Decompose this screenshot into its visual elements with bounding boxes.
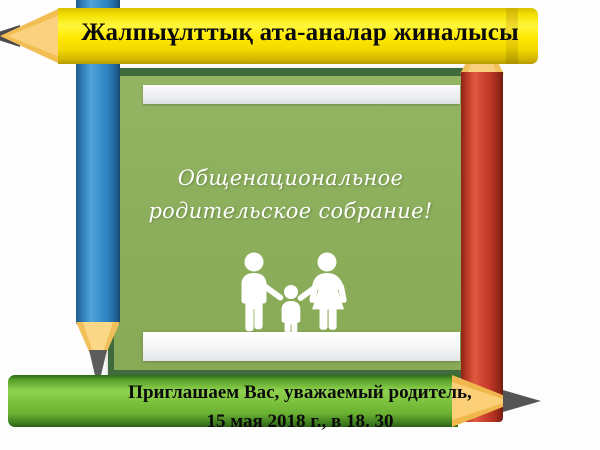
board-heading-line1: Общенациональное [178, 166, 404, 190]
chalkboard: Общенациональное родительское собрание! [108, 68, 473, 378]
board-heading: Общенациональное родительское собрание! [114, 162, 467, 227]
chalkboard-top-ledge [143, 85, 460, 104]
pencil-red-body [461, 72, 503, 422]
footer-line1: Приглашаем Вас, уважаемый родитель, [128, 382, 472, 403]
footer-line2: 15 мая 2018 г., в 18. 30 [0, 407, 600, 436]
poster-title: Жалпыұлттық ата-аналар жиналысы [0, 19, 600, 47]
chalkboard-bottom-ledge [143, 332, 460, 361]
board-heading-line2: родительское собрание! [114, 195, 467, 228]
family-icon [226, 251, 356, 341]
pencil-red [458, 26, 506, 426]
poster-canvas: Общенациональное родительское собрание! [0, 0, 600, 450]
chalkboard-surface: Общенациональное родительское собрание! [114, 76, 467, 370]
poster-footer: Приглашаем Вас, уважаемый родитель, 15 м… [0, 378, 600, 437]
